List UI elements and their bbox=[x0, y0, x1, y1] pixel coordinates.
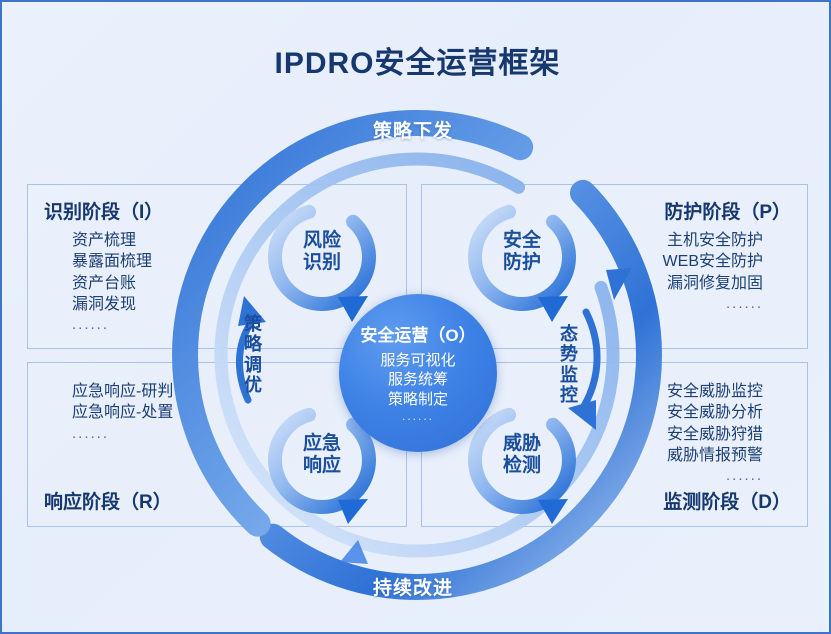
node-emergency-response: 应急 响应 bbox=[278, 433, 366, 478]
node-response-line1: 应急 bbox=[278, 433, 366, 455]
node-risk-identification: 风险 识别 bbox=[278, 230, 366, 275]
center-items: 服务可视化 服务统筹 策略制定 ...... bbox=[380, 351, 455, 425]
node-detect-line2: 检测 bbox=[478, 455, 566, 477]
framework-diagram: IPDRO安全运营框架 识别阶段（I） 资产梳理 暴露面梳理 资产台账 漏洞发现… bbox=[0, 0, 831, 634]
ellipsis: ...... bbox=[380, 409, 455, 425]
node-risk-line2: 识别 bbox=[278, 252, 366, 274]
ring-label-top: 策略下发 bbox=[373, 116, 453, 143]
list-item: 服务可视化 bbox=[380, 351, 455, 371]
node-security-protection: 安全 防护 bbox=[478, 230, 566, 275]
node-response-line2: 响应 bbox=[278, 455, 366, 477]
page-title: IPDRO安全运营框架 bbox=[2, 38, 831, 82]
list-item: 策略制定 bbox=[380, 390, 455, 410]
center-title: 安全运营（O） bbox=[360, 321, 475, 346]
node-detect-line1: 威胁 bbox=[478, 433, 566, 455]
ring-label-right: 态势监控 bbox=[558, 324, 580, 405]
node-protect-line2: 防护 bbox=[478, 252, 566, 274]
ring-label-left: 策略调优 bbox=[242, 314, 264, 395]
node-protect-line1: 安全 bbox=[478, 230, 566, 252]
node-threat-detection: 威胁 检测 bbox=[478, 433, 566, 478]
center-security-operations: 安全运营（O） 服务可视化 服务统筹 策略制定 ...... bbox=[339, 294, 497, 452]
list-item: 服务统筹 bbox=[380, 370, 455, 390]
node-risk-line1: 风险 bbox=[278, 230, 366, 252]
ring-label-bottom: 持续改进 bbox=[373, 573, 453, 600]
